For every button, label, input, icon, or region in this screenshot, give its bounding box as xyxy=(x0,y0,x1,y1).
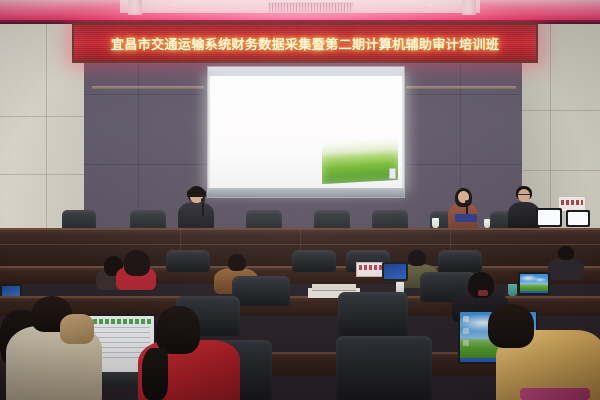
wall-rail-left xyxy=(92,86,204,89)
audience-chair-b1 xyxy=(166,250,210,272)
slide-landscape-image xyxy=(322,138,398,184)
cup-head-table-1 xyxy=(432,218,439,228)
laptop-blue-right xyxy=(382,262,408,281)
hair-strand xyxy=(60,314,94,344)
glasses-icon xyxy=(518,194,530,198)
laptop-lid xyxy=(518,272,550,295)
microphone-left xyxy=(202,200,204,216)
head-chair-4 xyxy=(314,210,350,230)
wall-rail-right xyxy=(406,86,516,89)
laptop-small-center xyxy=(518,272,550,295)
audience-chair-b4 xyxy=(438,250,482,272)
attendee-back-row-right xyxy=(548,246,584,276)
laptop-screen xyxy=(568,212,588,225)
presenter-right-woman xyxy=(448,188,478,230)
laptop-screen xyxy=(384,264,406,279)
head-chair-5 xyxy=(372,210,408,230)
laptop-screen xyxy=(520,274,548,293)
laptop-screen xyxy=(538,210,560,225)
hair-long xyxy=(142,348,168,400)
audience-chair-f2 xyxy=(338,292,408,336)
attendee-cream-jacket xyxy=(6,296,102,400)
cup-teal xyxy=(508,284,517,296)
scarf xyxy=(478,290,488,296)
pink-item-foreground xyxy=(520,388,590,400)
desktop-icon-2 xyxy=(463,328,469,334)
attendee-yellow-jacket xyxy=(496,304,600,400)
audience-chair-f4 xyxy=(336,336,432,400)
attendee-red-coat xyxy=(138,306,240,400)
screen-top-bar xyxy=(208,67,404,76)
laptop-lid xyxy=(566,210,590,227)
audience-chair-b2 xyxy=(292,250,336,272)
desktop-icon-1 xyxy=(463,316,469,322)
banner-text: 宜昌市交通运输系统财务数据采集暨第二期计算机辅助审计培训班 xyxy=(111,34,499,53)
audience-chair-m1 xyxy=(232,276,290,306)
wall-placard-text-icon xyxy=(561,200,583,205)
head-chair-1 xyxy=(62,210,96,230)
laptop-lid xyxy=(382,262,408,281)
microphone-head-icon-left xyxy=(201,198,205,202)
screen-surface xyxy=(210,76,402,188)
head-chair-3 xyxy=(246,210,282,230)
laptop-head-table-2 xyxy=(566,210,590,227)
microphone-head-icon-right xyxy=(465,200,469,204)
presenter-left xyxy=(178,186,214,230)
head-chair-2 xyxy=(130,210,166,230)
desktop-icon-3 xyxy=(463,340,469,346)
screen-bottom-bar xyxy=(208,188,404,197)
slide-cursor-icon xyxy=(389,168,396,179)
cup-head-table-2 xyxy=(484,219,490,228)
laptop-head-table xyxy=(536,208,562,227)
paper-stack-2 xyxy=(312,284,356,290)
photo-conference-room: 宜昌市交通运输系统财务数据采集暨第二期计算机辅助审计培训班 xyxy=(0,0,600,400)
table-item-blue xyxy=(455,214,477,222)
laptop-lid xyxy=(536,208,562,227)
led-banner: 宜昌市交通运输系统财务数据采集暨第二期计算机辅助审计培训班 xyxy=(72,23,538,63)
attendee-red-scarf xyxy=(116,250,156,286)
projection-screen xyxy=(207,66,405,198)
ceiling-glow xyxy=(0,0,600,22)
